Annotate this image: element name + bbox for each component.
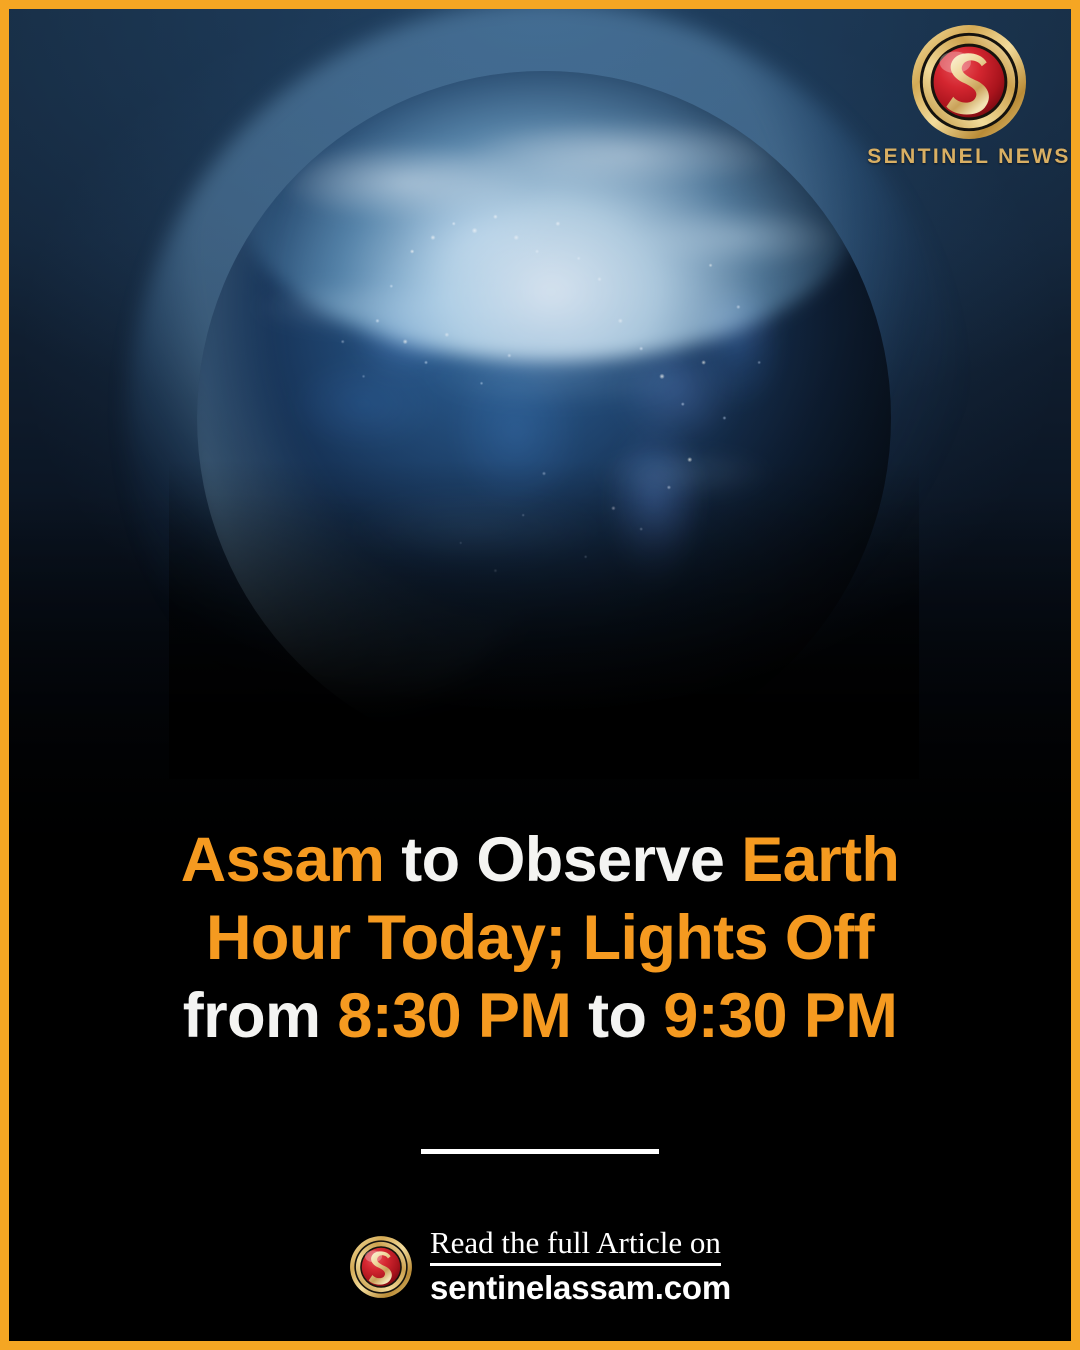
headline-segment: to	[571, 981, 663, 1051]
headline-segment: Hour Today; Lights Off	[206, 903, 874, 973]
footer-cta[interactable]: Read the full Article on sentinelassam.c…	[9, 1226, 1071, 1307]
headline-segment: 9:30 PM	[663, 981, 897, 1051]
headline: Assam to Observe Earth Hour Today; Light…	[9, 821, 1071, 1055]
headline-segment: to Observe	[384, 825, 741, 895]
headline-line-1: Assam to Observe Earth	[61, 821, 1019, 899]
headline-line-2: Hour Today; Lights Off	[61, 899, 1019, 977]
headline-line-3: from 8:30 PM to 9:30 PM	[61, 977, 1019, 1055]
globe-rim-light	[197, 71, 891, 765]
footer-website-url[interactable]: sentinelassam.com	[430, 1266, 731, 1307]
brand-name: SENTINEL NEWS	[867, 145, 1071, 169]
headline-segment: 8:30 PM	[337, 981, 571, 1051]
divider-row	[9, 1149, 1071, 1154]
headline-segment: Earth	[741, 825, 899, 895]
footer-read-label: Read the full Article on	[430, 1226, 721, 1266]
sentinel-s-emblem-icon	[910, 23, 1028, 141]
headline-segment: from	[183, 981, 338, 1051]
section-divider	[421, 1149, 659, 1154]
footer-text-block: Read the full Article on sentinelassam.c…	[430, 1226, 731, 1307]
sentinel-s-emblem-icon	[349, 1235, 413, 1299]
news-poster: SENTINEL NEWS Assam to Observe Earth Hou…	[0, 0, 1080, 1350]
brand-logo: SENTINEL NEWS	[881, 23, 1057, 169]
headline-segment: Assam	[181, 825, 385, 895]
earth-globe-graphic	[197, 71, 891, 765]
